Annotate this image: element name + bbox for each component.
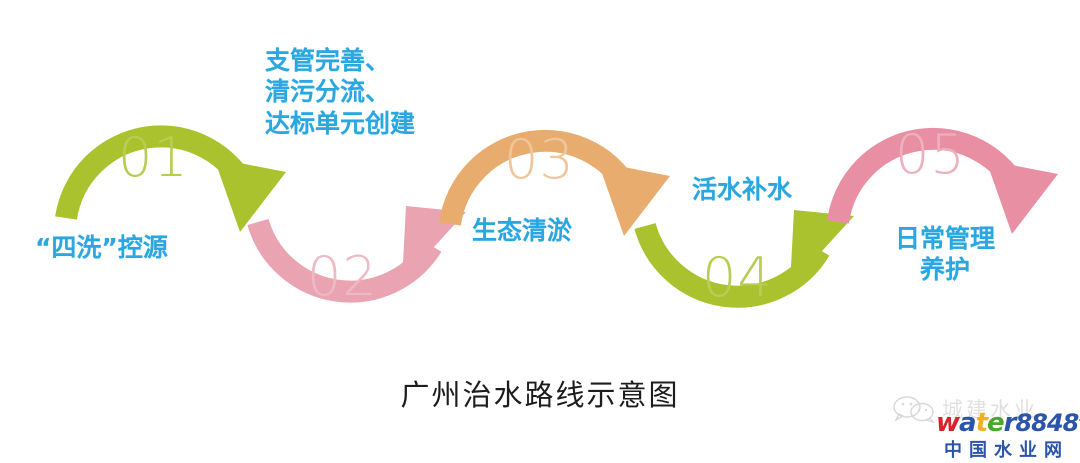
brand-number: 8848 [1015, 409, 1078, 437]
step-label-05-line1: 日常管理 [871, 224, 1019, 255]
brand-letter-r: r [1004, 408, 1016, 438]
step-label-01: “四洗”控源 [35, 233, 168, 264]
step-label-02-line3: 达标单元创建 [265, 108, 415, 139]
step-number-01: 01 [118, 131, 189, 185]
watermark: 城建水业 water8848.com 中国水业网 [888, 392, 1080, 460]
brand-letter-w: w [936, 408, 959, 438]
watermark-brand: water8848.com [936, 408, 1080, 438]
watermark-site-name: 中国水业网 [944, 436, 1069, 462]
step-label-03: 生态清淤 [472, 216, 572, 247]
brand-letter-a: a [959, 408, 976, 438]
step-number-02: 02 [307, 250, 378, 304]
brand-letter-e: e [987, 408, 1004, 438]
step-label-02: 支管完善、 清污分流、 达标单元创建 [265, 45, 415, 139]
step-label-04: 活水补水 [692, 175, 792, 206]
step-label-02-line2: 清污分流、 [265, 76, 415, 107]
step-label-05-line2: 养护 [871, 255, 1019, 286]
step-label-02-line1: 支管完善、 [265, 45, 415, 76]
step-number-04: 04 [702, 251, 773, 305]
brand-letter-t: t [976, 408, 987, 438]
wechat-icon [892, 395, 936, 423]
step-label-05: 日常管理 养护 [871, 224, 1019, 285]
step-number-05: 05 [895, 128, 966, 182]
infographic-canvas: 01 02 03 04 05 “四洗”控源 支管完善、 清污分流、 达标单元创建… [0, 0, 1080, 463]
step-number-03: 03 [504, 133, 575, 187]
